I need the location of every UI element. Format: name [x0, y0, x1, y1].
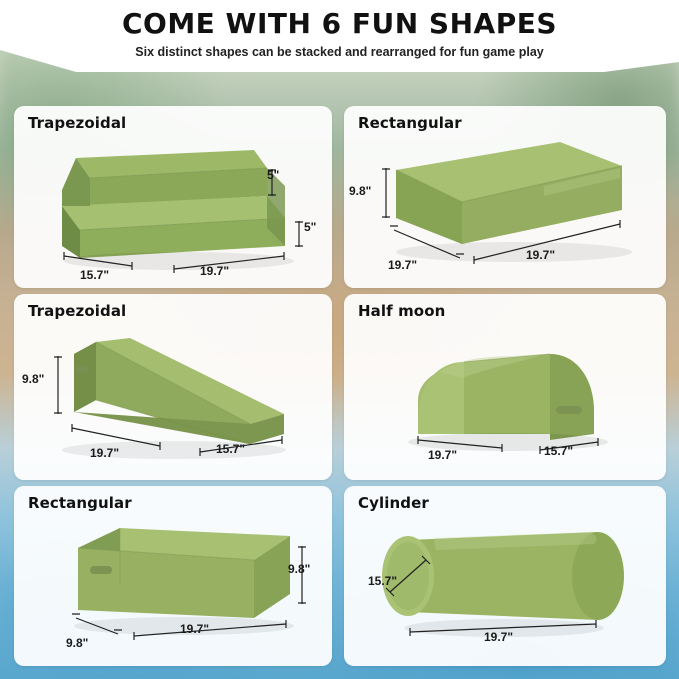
dimension-value: 15.7" [544, 444, 573, 458]
shape-illustration-trapezoidal-steps: 5" 5" 15.7" 19.7" [14, 106, 332, 288]
dimension-value: 19.7" [180, 622, 209, 636]
shape-illustration-half-moon: 19.7" 15.7" [344, 294, 666, 480]
dimension-value: 19.7" [526, 248, 555, 262]
dimension-value: 9.8" [22, 372, 44, 386]
card-half-moon: Half moon 19.7 [344, 294, 666, 480]
page-subtitle: Six distinct shapes can be stacked and r… [0, 45, 679, 59]
shape-illustration-rectangular-bolster: 9.8" 9.8" 19.7" [14, 486, 332, 666]
dimension-value: 15.7" [216, 442, 245, 456]
dimension-value: 19.7" [484, 630, 513, 644]
dimension-value: 9.8" [66, 636, 88, 650]
dimension-value: 15.7" [368, 574, 397, 588]
shape-illustration-cylinder: 15.7" 19.7" [344, 486, 666, 666]
shape-illustration-trapezoidal-wedge: 9.8" 19.7" 15.7" [14, 294, 332, 480]
dimension-value: 9.8" [349, 184, 371, 198]
dimension-value: 15.7" [80, 268, 109, 282]
dimension-value: 5" [267, 168, 279, 182]
dimension-value: 19.7" [200, 264, 229, 278]
card-trapezoidal-wedge: Trapezoidal [14, 294, 332, 480]
dimension-value: 9.8" [288, 562, 310, 576]
card-rectangular-bolster: Rectangular [14, 486, 332, 666]
dimension-value: 5" [304, 220, 316, 234]
dimension-value: 19.7" [428, 448, 457, 462]
card-trapezoidal-steps: Trapezoidal [14, 106, 332, 288]
dimension-value: 19.7" [90, 446, 119, 460]
dimension-value: 19.7" [388, 258, 417, 272]
card-rectangular-block: Rectangular 9.8" 19.7" 19.7 [344, 106, 666, 288]
shape-illustration-rectangular-block: 9.8" 19.7" 19.7" [344, 106, 666, 288]
card-cylinder: Cylinder 15.7" 19.7" [344, 486, 666, 666]
page-title: COME WITH 6 FUN SHAPES [0, 7, 679, 40]
